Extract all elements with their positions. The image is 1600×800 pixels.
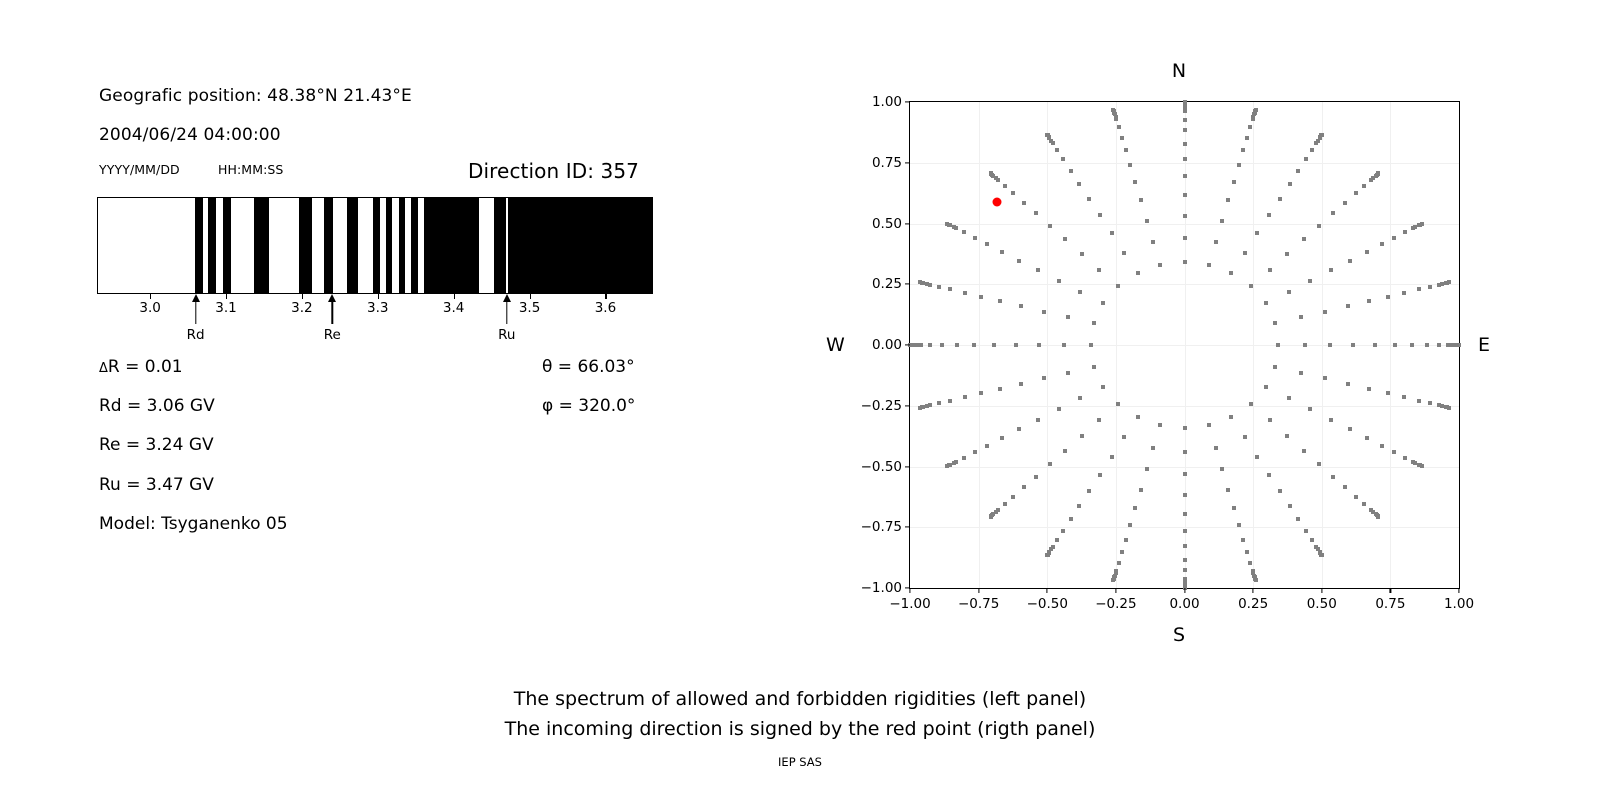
direction-grid-point [1348,427,1352,431]
direction-grid-point [1022,485,1026,489]
y-tick-mark [905,101,910,102]
direction-grid-point [1445,405,1449,409]
direction-grid-point [1183,472,1187,476]
direction-grid-point [1328,343,1332,347]
direction-grid-point [1183,128,1187,132]
param-re: Re = 3.24 GV [99,435,214,455]
param-phi: φ = 320.0° [542,396,635,416]
direction-grid-point [1214,240,1218,244]
x-tick-label: −1.00 [889,596,930,612]
direction-grid-point [1036,418,1040,422]
direction-grid-point [1183,579,1187,583]
direction-grid-point [1237,163,1241,167]
direction-id-label: Direction ID: 357 [468,159,639,183]
direction-grid-point [1133,180,1137,184]
direction-grid-point [1069,517,1073,521]
direction-grid-point [1049,547,1053,551]
direction-grid-point [1034,475,1038,479]
direction-grid-point [1288,182,1292,186]
x-tick-label: −0.25 [1095,596,1136,612]
direction-grid-point [1114,571,1118,575]
direction-grid-point [1183,512,1187,516]
direction-grid-point [962,230,966,234]
param-ru: Ru = 3.47 GV [99,475,214,495]
direction-grid-point [1063,449,1067,453]
direction-grid-point [1354,495,1358,499]
asymptotic-direction-plot: −1.00−0.75−0.50−0.250.000.250.500.751.00… [909,101,1460,589]
direction-grid-point [1273,365,1277,369]
direction-grid-point [1014,343,1018,347]
direction-grid-point [1304,529,1308,533]
direction-grid-point [1392,450,1396,454]
direction-grid-point [920,405,924,409]
arrow-up-icon [328,294,336,302]
direction-grid-point [1329,268,1333,272]
direction-grid-point [998,387,1002,391]
gridline-horizontal [910,224,1459,225]
forbidden-band [324,198,333,293]
y-tick-mark [905,466,910,467]
direction-grid-point [1078,396,1082,400]
direction-grid-point [928,343,932,347]
direction-grid-point [1428,401,1432,405]
direction-grid-point [1428,285,1432,289]
forbidden-band [254,198,269,293]
direction-grid-point [911,343,915,347]
forbidden-band [195,198,203,293]
direction-grid-point [1440,404,1444,408]
direction-grid-point [1136,415,1140,419]
direction-grid-point [994,510,998,514]
direction-grid-point [1183,450,1187,454]
direction-grid-point [1128,163,1132,167]
direction-grid-point [1249,402,1253,406]
direction-grid-point [1348,259,1352,263]
direction-grid-point [1112,111,1116,115]
direction-grid-point [1354,191,1358,195]
direction-grid-point [1253,111,1257,115]
rigidity-marker-label: Rd [187,327,205,343]
direction-grid-point [1042,376,1046,380]
direction-grid-point [973,450,977,454]
direction-grid-point [1116,402,1120,406]
direction-grid-point [1117,561,1121,565]
direction-grid-point [1310,148,1314,152]
direction-grid-point [1445,281,1449,285]
direction-grid-point [1098,473,1102,477]
direction-grid-point [1417,399,1421,403]
direction-grid-point [1241,538,1245,542]
direction-grid-point [1380,444,1384,448]
direction-grid-point [1346,304,1350,308]
x-tick-label: 0.00 [1169,596,1199,612]
rigidity-tick-label: 3.6 [595,300,616,316]
direction-grid-point [1183,236,1187,240]
direction-grid-point [1417,287,1421,291]
y-tick-label: −0.25 [861,398,902,414]
y-tick-mark [905,344,910,345]
direction-grid-point [925,404,929,408]
gridline-horizontal [910,406,1459,407]
direction-grid-point [1318,551,1322,555]
direction-grid-point [1287,396,1291,400]
direction-grid-point [998,299,1002,303]
direction-grid-point [1063,237,1067,241]
direction-grid-point [1403,456,1407,460]
datetime-label: 2004/06/24 04:00:00 [99,125,281,145]
direction-grid-point [920,281,924,285]
direction-grid-point [962,456,966,460]
direction-grid-point [1151,446,1155,450]
direction-grid-point [1048,462,1052,466]
param-model: Model: Tsyganenko 05 [99,514,288,534]
direction-grid-point [1267,473,1271,477]
direction-grid-point [1375,173,1379,177]
direction-grid-point [1425,343,1429,347]
direction-grid-point [1365,436,1369,440]
direction-grid-point [1418,223,1422,227]
direction-grid-point [1323,376,1327,380]
x-tick-mark [909,588,910,593]
direction-grid-point [1380,242,1384,246]
direction-grid-point [1264,301,1268,305]
direction-grid-point [1151,240,1155,244]
direction-grid-point [948,399,952,403]
direction-grid-point [1158,423,1162,427]
direction-grid-point [1346,382,1350,386]
direction-grid-point [940,343,944,347]
y-tick-mark [905,223,910,224]
right-panel: −1.00−0.75−0.50−0.250.000.250.500.751.00… [760,0,1600,680]
direction-grid-point [1066,371,1070,375]
arrow-up-icon [192,294,200,302]
y-tick-label: −0.75 [861,519,902,535]
direction-grid-point [1241,148,1245,152]
direction-grid-point [1317,224,1321,228]
direction-grid-point [1232,180,1236,184]
direction-grid-point [1214,446,1218,450]
time-format-hint: HH:MM:SS [218,162,283,177]
direction-grid-point [1183,529,1187,533]
rigidity-tick-label: 3.5 [519,300,540,316]
date-format-hint: YYYY/MM/DD [99,162,180,177]
direction-grid-point [1124,148,1128,152]
direction-grid-point [1287,290,1291,294]
direction-grid-point [1304,157,1308,161]
direction-grid-point [1303,343,1307,347]
direction-grid-point [1158,263,1162,267]
x-tick-mark [1253,588,1254,593]
direction-grid-point [973,236,977,240]
direction-grid-point [1299,371,1303,375]
direction-grid-point [1413,225,1417,229]
y-tick-label: 0.50 [872,216,902,232]
direction-grid-point [1139,198,1143,202]
x-tick-mark [1184,588,1185,593]
direction-grid-point [1278,197,1282,201]
direction-grid-point [1323,310,1327,314]
forbidden-band [347,198,358,293]
direction-grid-point [1055,538,1059,542]
rigidity-marker-label: Re [324,327,341,343]
direction-grid-point [1087,489,1091,493]
x-tick-label: 0.25 [1238,596,1268,612]
compass-label-north: N [1172,60,1186,82]
rigidity-tick-label: 3.4 [443,300,464,316]
direction-grid-point [1220,467,1224,471]
direction-grid-point [1080,252,1084,256]
compass-label-east: E [1478,334,1490,356]
direction-grid-point [1183,214,1187,218]
y-tick-mark [905,405,910,406]
direction-grid-point [1047,551,1051,555]
direction-grid-point [1229,415,1233,419]
direction-grid-point [1003,184,1007,188]
direction-grid-point [1066,315,1070,319]
direction-grid-point [1229,271,1233,275]
forbidden-band [399,198,405,293]
direction-grid-point [947,223,951,227]
rigidity-spectrum-plot [97,197,653,294]
direction-grid-point [1267,213,1271,217]
direction-grid-point [1062,343,1066,347]
direction-grid-point [1120,136,1124,140]
direction-grid-point [1310,538,1314,542]
delta-symbol: Δ [99,361,108,376]
direction-grid-point [1122,251,1126,255]
direction-grid-point [1393,343,1397,347]
direction-grid-point [1019,382,1023,386]
direction-grid-point [1386,295,1390,299]
rigidity-marker-label: Ru [498,327,515,343]
direction-grid-point [1183,558,1187,562]
direction-grid-point [1371,510,1375,514]
direction-grid-point [1276,343,1280,347]
direction-grid-point [1243,251,1247,255]
direction-grid-point [1078,290,1082,294]
rigidity-tick-mark [530,294,531,299]
direction-grid-point [1220,219,1224,223]
selected-direction-point [993,198,1002,207]
rigidity-tick-mark [378,294,379,299]
direction-grid-point [1302,237,1306,241]
rigidity-tick-label: 3.0 [139,300,160,316]
direction-grid-point [1183,426,1187,430]
gridline-horizontal [910,284,1459,285]
param-delta-r: ΔR = 0.01 [99,357,183,377]
direction-grid-point [1285,434,1289,438]
direction-grid-point [1245,136,1249,140]
direction-grid-point [1255,231,1259,235]
direction-grid-point [1207,263,1211,267]
direction-grid-point [1112,575,1116,579]
direction-grid-point [1049,139,1053,143]
forbidden-band [411,198,418,293]
direction-grid-point [1329,418,1333,422]
direction-grid-point [1392,236,1396,240]
direction-grid-point [955,343,959,347]
forbidden-band [223,198,231,293]
direction-grid-point [1251,571,1255,575]
arrow-up-icon [503,294,511,302]
direction-grid-point [1317,462,1321,466]
direction-grid-point [1373,343,1377,347]
direction-grid-point [1365,250,1369,254]
direction-grid-point [1087,197,1091,201]
direction-grid-point [972,343,976,347]
direction-grid-point [1080,434,1084,438]
direction-grid-point [979,391,983,395]
direction-grid-point [1183,568,1187,572]
direction-grid-point [1183,493,1187,497]
direction-grid-point [937,401,941,405]
direction-grid-point [1268,268,1272,272]
direction-grid-point [1410,343,1414,347]
direction-grid-point [1097,268,1101,272]
x-tick-mark [1047,588,1048,593]
direction-grid-point [1061,157,1065,161]
direction-grid-point [1114,115,1118,119]
direction-grid-point [1299,315,1303,319]
direction-grid-point [992,343,996,347]
direction-grid-point [1000,436,1004,440]
geographic-position-label: Geografic position: 48.38°N 21.43°E [99,86,412,106]
y-tick-label: 1.00 [872,94,902,110]
direction-grid-point [1101,385,1105,389]
direction-grid-point [1037,343,1041,347]
direction-grid-point [1316,139,1320,143]
direction-grid-point [1226,198,1230,202]
direction-grid-point [979,295,983,299]
direction-grid-point [1117,125,1121,129]
direction-grid-point [1003,502,1007,506]
direction-grid-point [1288,504,1292,508]
direction-grid-point [1145,219,1149,223]
direction-grid-point [1011,495,1015,499]
direction-grid-point [1296,169,1300,173]
direction-grid-point [1245,550,1249,554]
direction-grid-point [1092,365,1096,369]
rigidity-tick-label: 3.1 [215,300,236,316]
direction-grid-point [1124,538,1128,542]
direction-grid-point [1183,260,1187,264]
direction-grid-point [1207,423,1211,427]
direction-grid-point [1101,301,1105,305]
direction-grid-point [1371,176,1375,180]
direction-grid-point [952,225,956,229]
direction-grid-point [1249,284,1253,288]
y-tick-mark [905,527,910,528]
direction-grid-point [1077,182,1081,186]
forbidden-band [299,198,312,293]
footer-credit: IEP SAS [778,755,822,769]
direction-grid-point [994,176,998,180]
direction-grid-point [1308,407,1312,411]
rigidity-tick-mark [150,294,151,299]
direction-grid-point [1110,455,1114,459]
x-tick-mark [1115,588,1116,593]
direction-grid-point [1183,544,1187,548]
direction-grid-point [948,287,952,291]
x-tick-label: −0.75 [958,596,999,612]
y-tick-label: 0.25 [872,276,902,292]
direction-grid-point [1183,102,1187,106]
direction-grid-point [937,285,941,289]
direction-grid-point [1122,435,1126,439]
direction-grid-point [1418,463,1422,467]
direction-grid-point [1022,201,1026,205]
direction-grid-point [1048,224,1052,228]
forbidden-band [424,198,479,293]
y-tick-label: 0.00 [872,337,902,353]
caption-line-1: The spectrum of allowed and forbidden ri… [514,688,1086,710]
param-theta: θ = 66.03° [542,357,635,377]
direction-grid-point [1278,489,1282,493]
direction-grid-point [1011,191,1015,195]
x-tick-label: 1.00 [1444,596,1474,612]
direction-grid-point [990,513,994,517]
direction-grid-point [1402,395,1406,399]
gridline-horizontal [910,527,1459,528]
direction-grid-point [1116,284,1120,288]
direction-grid-point [1128,523,1132,527]
direction-grid-point [1264,385,1268,389]
direction-grid-point [1302,449,1306,453]
direction-grid-point [1449,343,1453,347]
direction-grid-point [1351,343,1355,347]
compass-label-south: S [1173,624,1185,646]
direction-grid-point [1092,321,1096,325]
direction-grid-point [1183,174,1187,178]
direction-grid-point [1413,461,1417,465]
direction-grid-point [1402,291,1406,295]
direction-grid-point [1232,506,1236,510]
x-tick-label: −0.50 [1027,596,1068,612]
direction-grid-point [1097,418,1101,422]
direction-grid-point [1183,142,1187,146]
direction-grid-point [1139,488,1143,492]
forbidden-band [373,198,381,293]
direction-grid-point [1251,115,1255,119]
direction-grid-point [963,291,967,295]
direction-grid-point [1273,321,1277,325]
direction-grid-point [1036,268,1040,272]
rigidity-tick-mark [226,294,227,299]
direction-grid-point [1343,485,1347,489]
direction-grid-point [1057,279,1061,283]
direction-grid-point [1248,125,1252,129]
direction-grid-point [1136,271,1140,275]
direction-grid-point [1386,391,1390,395]
rigidity-tick-mark [302,294,303,299]
direction-grid-point [1331,475,1335,479]
param-rd: Rd = 3.06 GV [99,396,215,416]
direction-grid-point [1375,513,1379,517]
direction-grid-point [925,282,929,286]
direction-grid-point [1069,169,1073,173]
direction-grid-point [1042,310,1046,314]
direction-grid-point [1362,184,1366,188]
direction-grid-point [1110,231,1114,235]
x-tick-mark [1321,588,1322,593]
compass-label-west: W [826,334,845,356]
forbidden-band [386,198,392,293]
direction-grid-point [985,444,989,448]
y-tick-label: −1.00 [861,580,902,596]
rigidity-tick-label: 3.2 [291,300,312,316]
direction-grid-point [1183,107,1187,111]
direction-grid-point [1055,148,1059,152]
